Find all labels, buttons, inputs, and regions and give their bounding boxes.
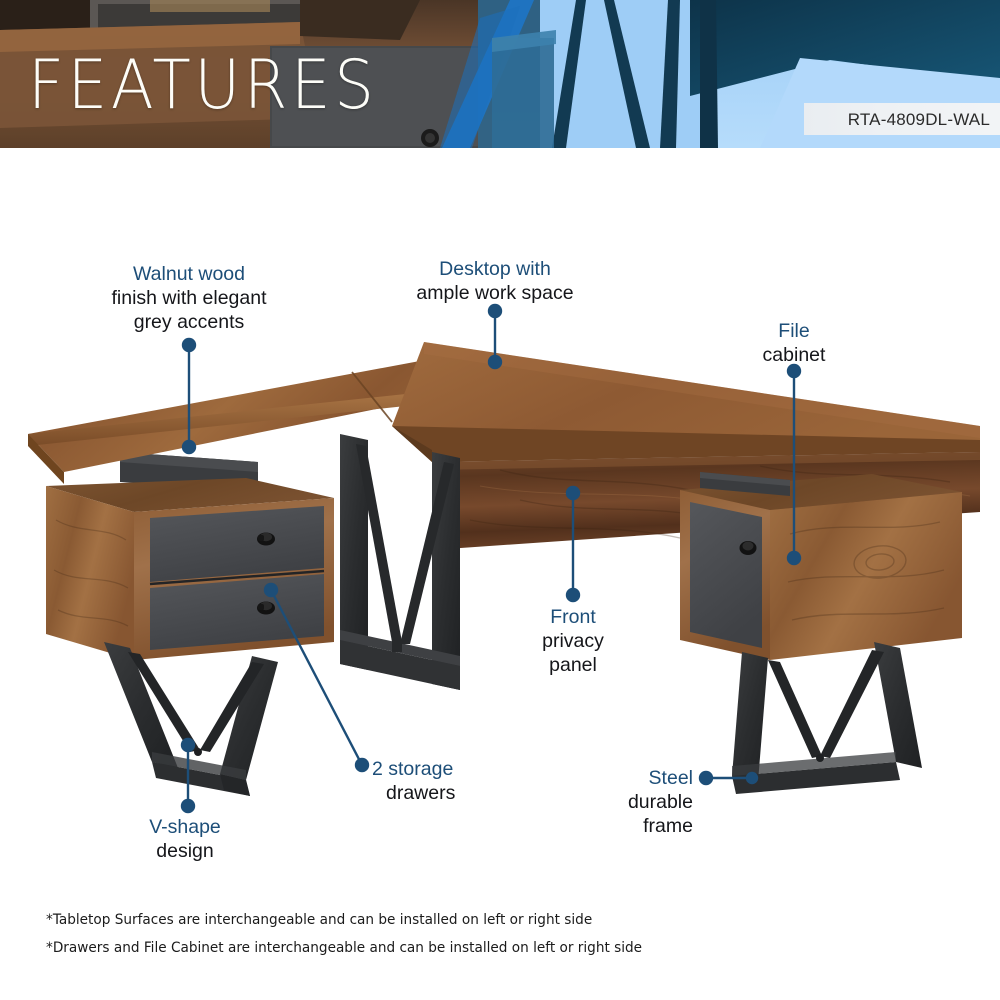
page-title: FEATURES	[28, 52, 378, 120]
footnotes: *Tabletop Surfaces are interchangeable a…	[46, 906, 680, 962]
callout-walnut-wood-finish: Walnut wood finish with elegant grey acc…	[0, 262, 378, 334]
header-banner: FEATURES RTA-4809DL-WAL	[0, 0, 1000, 148]
callout-line: grey accents	[0, 310, 378, 334]
callout-line: Desktop with	[345, 257, 645, 281]
callout-v-shape-design: V-shape design	[85, 815, 285, 863]
drawer-knob-lower[interactable]	[257, 602, 275, 615]
callout-line: Walnut wood	[0, 262, 378, 286]
callout-line: durable	[493, 790, 693, 814]
left-v-leg	[104, 642, 278, 796]
callout-line: ample work space	[345, 281, 645, 305]
callout-line: design	[85, 839, 285, 863]
callout-line: panel	[473, 653, 673, 677]
callout-line: finish with elegant	[0, 286, 378, 310]
callout-line: Steel	[493, 766, 693, 790]
callout-steel-durable-frame: Steel durable frame	[493, 766, 693, 838]
callout-line: privacy	[473, 629, 673, 653]
file-cabinet-knob[interactable]	[740, 541, 757, 555]
center-v-leg	[340, 434, 460, 690]
drawer-cabinet	[46, 478, 334, 660]
callout-desktop-work-space: Desktop with ample work space	[345, 257, 645, 305]
file-cabinet	[680, 472, 962, 660]
callout-front-privacy-panel: Front privacy panel	[473, 605, 673, 677]
features-page: FEATURES RTA-4809DL-WAL	[0, 0, 1000, 1000]
sku-badge-text: RTA-4809DL-WAL	[848, 110, 990, 130]
drawer-knob-upper[interactable]	[257, 533, 275, 546]
callout-line: cabinet	[694, 343, 894, 367]
callout-line: File	[694, 319, 894, 343]
callout-file-cabinet: File cabinet	[694, 319, 894, 367]
right-v-leg	[732, 642, 922, 794]
footnote-tabletop: *Tabletop Surfaces are interchangeable a…	[46, 906, 642, 934]
callout-line: Front	[473, 605, 673, 629]
footnote-drawers: *Drawers and File Cabinet are interchang…	[46, 934, 642, 962]
callout-line: V-shape	[85, 815, 285, 839]
callout-line: frame	[493, 814, 693, 838]
